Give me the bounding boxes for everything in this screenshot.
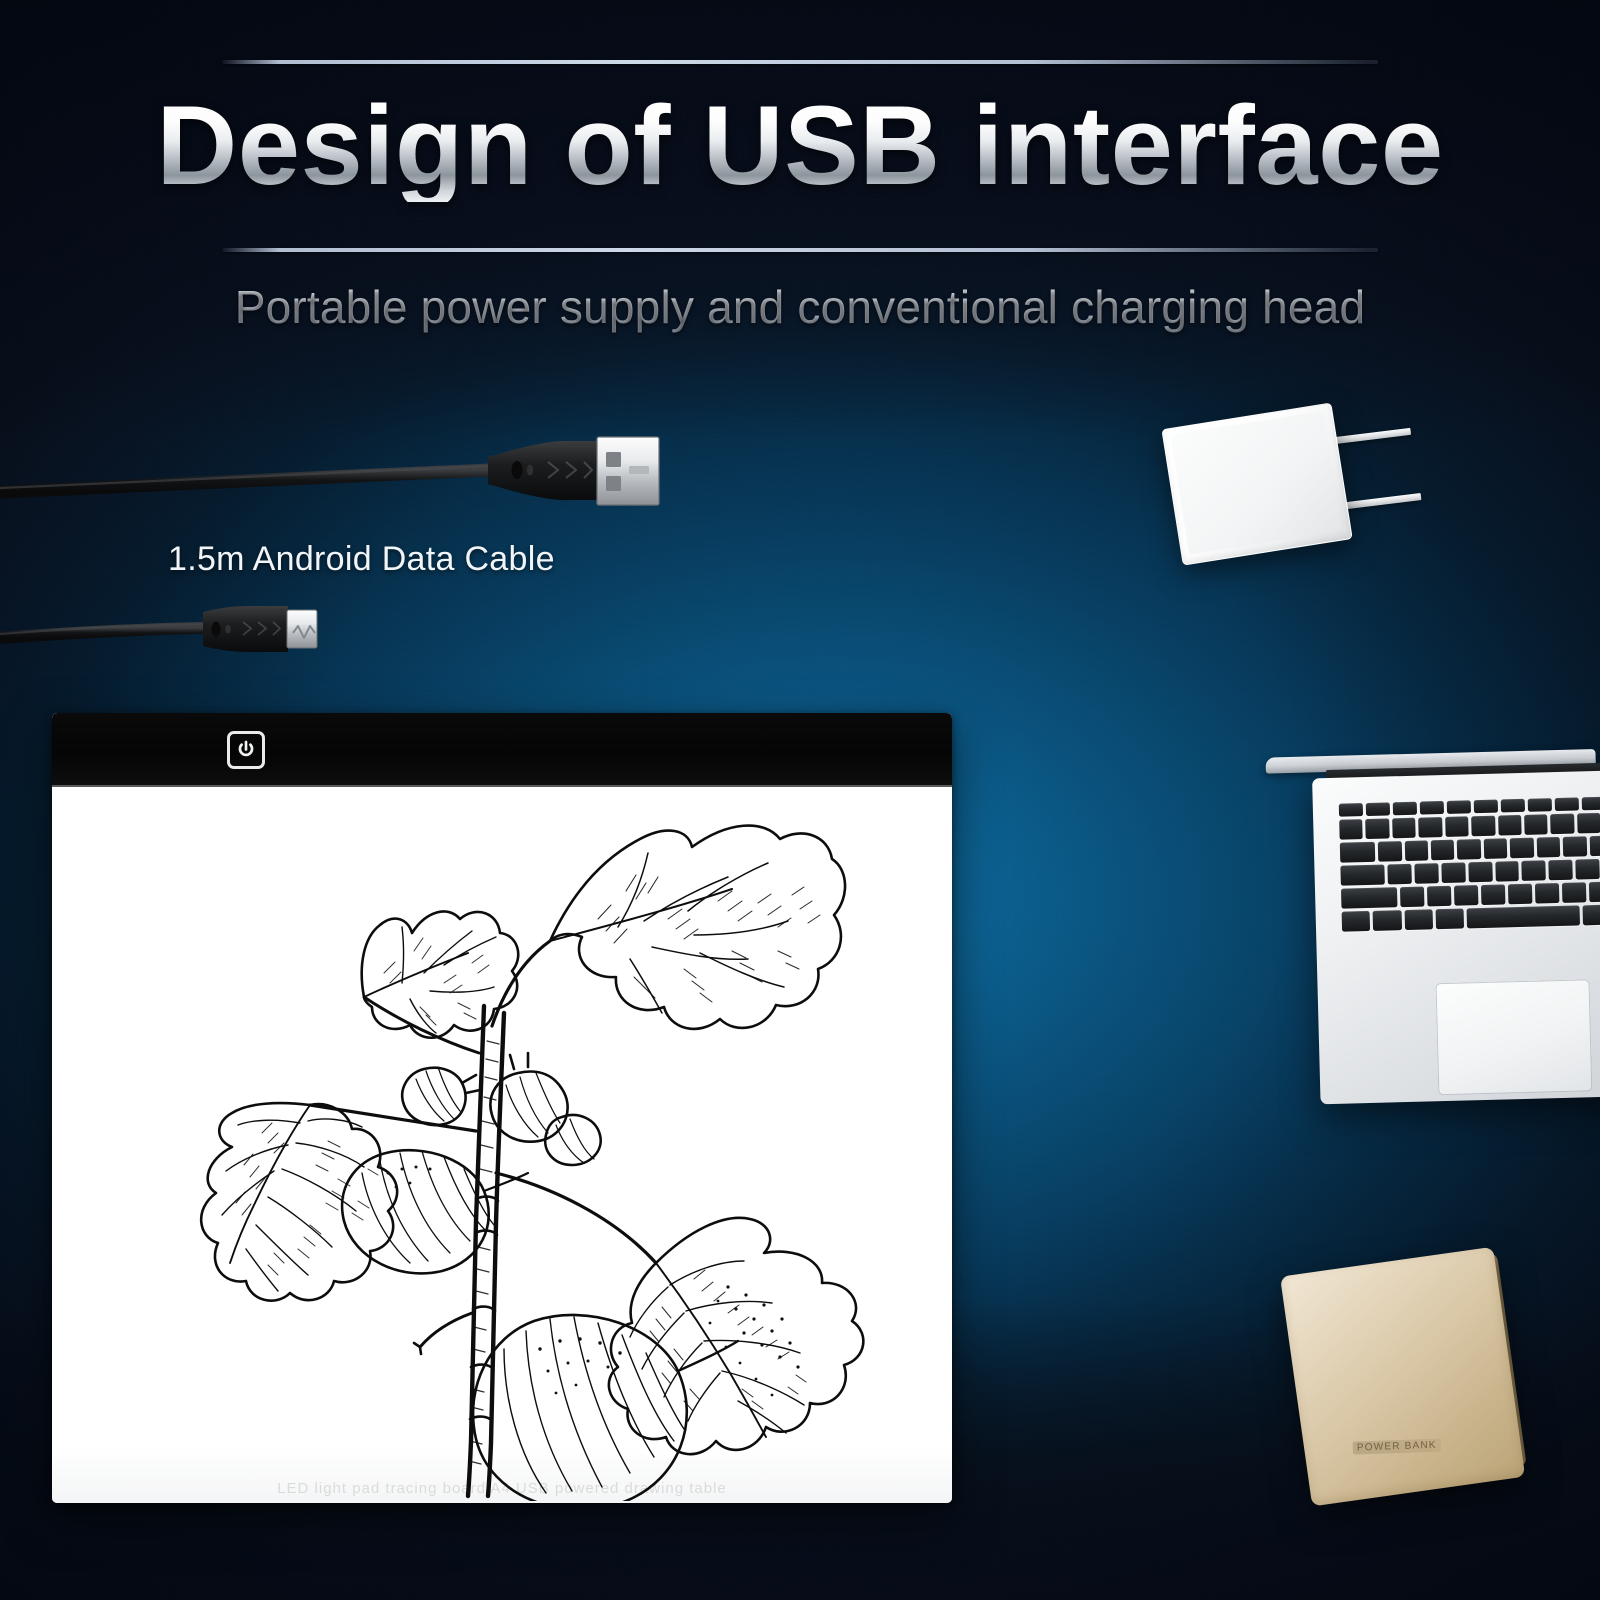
charger-prong-1: [1333, 428, 1411, 444]
silver-laptop[interactable]: [1264, 746, 1600, 1105]
keyboard-key[interactable]: [1576, 859, 1600, 880]
keyboard-key[interactable]: [1373, 910, 1402, 931]
keyboard-key[interactable]: [1431, 840, 1455, 861]
keyboard-key[interactable]: [1341, 887, 1398, 908]
fig-branch-artwork: [132, 801, 872, 1501]
keyboard-key[interactable]: [1340, 865, 1384, 886]
keyboard-key[interactable]: [1536, 837, 1560, 858]
keyboard-key[interactable]: [1404, 840, 1428, 861]
power-bank-logo: POWER BANK: [1353, 1439, 1441, 1455]
gold-power-bank[interactable]: POWER BANK: [1269, 1228, 1600, 1532]
keyboard-key[interactable]: [1589, 836, 1600, 857]
keyboard-key[interactable]: [1427, 886, 1452, 907]
cable-length-label: 1.5m Android Data Cable: [168, 540, 555, 579]
keyboard-key[interactable]: [1392, 818, 1416, 839]
charger-prong-2: [1343, 493, 1421, 509]
keyboard-key[interactable]: [1454, 885, 1479, 906]
keyboard-key[interactable]: [1339, 803, 1363, 817]
keyboard-key[interactable]: [1441, 862, 1465, 883]
keyboard-key[interactable]: [1562, 882, 1587, 903]
led-light-pad[interactable]: LED light pad tracing board A4 USB power…: [52, 713, 952, 1503]
keyboard-key[interactable]: [1471, 816, 1495, 837]
keyboard-key[interactable]: [1378, 841, 1402, 862]
keyboard-key[interactable]: [1393, 802, 1417, 816]
power-icon: [235, 739, 257, 761]
keyboard-key[interactable]: [1508, 884, 1533, 905]
keyboard-key[interactable]: [1342, 911, 1371, 932]
keyboard-key[interactable]: [1583, 905, 1600, 926]
keyboard-key[interactable]: [1524, 814, 1548, 835]
keyboard-key[interactable]: [1468, 862, 1492, 883]
keyboard-key[interactable]: [1457, 839, 1481, 860]
keyboard-key[interactable]: [1445, 816, 1469, 837]
light-pad-surface: LED light pad tracing board A4 USB power…: [52, 787, 952, 1503]
keyboard-key[interactable]: [1366, 802, 1390, 816]
keyboard-key[interactable]: [1555, 797, 1579, 811]
page-title: Design of USB interface: [0, 90, 1600, 202]
keyboard-key[interactable]: [1339, 819, 1363, 840]
keyboard-key[interactable]: [1404, 909, 1433, 930]
keyboard-key[interactable]: [1474, 800, 1498, 814]
keyboard-key[interactable]: [1420, 801, 1444, 815]
keyboard-key[interactable]: [1435, 908, 1464, 929]
laptop-trackpad[interactable]: [1435, 979, 1592, 1095]
divider-bottom: [222, 248, 1378, 252]
keyboard-key[interactable]: [1481, 884, 1506, 905]
keyboard-key[interactable]: [1549, 860, 1573, 881]
keyboard-key[interactable]: [1366, 818, 1390, 839]
keyboard-key[interactable]: [1528, 798, 1552, 812]
keyboard-key[interactable]: [1447, 800, 1471, 814]
keyboard-key[interactable]: [1582, 797, 1600, 811]
light-pad-ghost-text: LED light pad tracing board A4 USB power…: [52, 1480, 952, 1497]
keyboard-key[interactable]: [1589, 882, 1600, 903]
power-button[interactable]: [227, 731, 265, 769]
keyboard-key[interactable]: [1563, 836, 1587, 857]
keyboard-key[interactable]: [1501, 799, 1525, 813]
page-subtitle: Portable power supply and conventional c…: [0, 280, 1600, 334]
laptop-keyboard[interactable]: [1339, 794, 1600, 959]
charger-face: [1170, 411, 1342, 555]
light-pad-bezel: [52, 713, 952, 787]
keyboard-key[interactable]: [1510, 838, 1534, 859]
product-banner: Design of USB interface Portable power s…: [0, 0, 1600, 1600]
keyboard-key[interactable]: [1400, 887, 1425, 908]
keyboard-key[interactable]: [1387, 864, 1411, 885]
charger-body: [1161, 403, 1352, 566]
keyboard-key[interactable]: [1495, 861, 1519, 882]
keyboard-key[interactable]: [1522, 860, 1546, 881]
keyboard-key[interactable]: [1418, 817, 1442, 838]
keyboard-key[interactable]: [1467, 905, 1581, 928]
keyboard-key[interactable]: [1414, 863, 1438, 884]
keyboard-key[interactable]: [1577, 813, 1600, 834]
keyboard-key[interactable]: [1550, 814, 1574, 835]
keyboard-key[interactable]: [1340, 842, 1376, 863]
divider-top: [222, 60, 1378, 64]
keyboard-key[interactable]: [1535, 883, 1560, 904]
power-bank-body: POWER BANK: [1280, 1247, 1525, 1507]
keyboard-key[interactable]: [1498, 815, 1522, 836]
keyboard-key[interactable]: [1484, 838, 1508, 859]
